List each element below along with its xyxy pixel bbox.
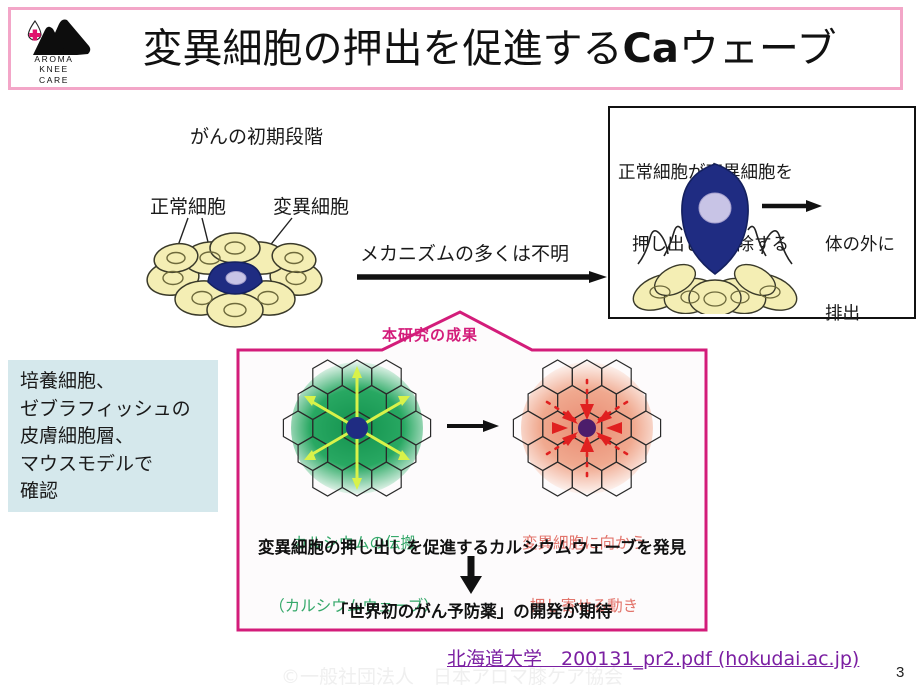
aroma-knee-care-logo-icon <box>15 14 93 56</box>
early-stage-label: がんの初期段階 <box>190 122 323 149</box>
mutant-cell-marker <box>346 417 368 439</box>
watermark: ©一般社団法人 日本アロマ膝ケア協会 <box>281 662 623 689</box>
logo-line-1: AROMA <box>15 54 93 65</box>
page-title-tail: ウェーブ <box>679 26 837 72</box>
title-bar: AROMA KNEE CARE 変異細胞の押出を促進するCaウェーブ <box>8 7 903 90</box>
logo-line-2: KNEE <box>15 64 93 75</box>
results-middle-right-arrow-icon <box>447 420 499 432</box>
logo: AROMA KNEE CARE <box>15 12 93 86</box>
mutant-cell-marker <box>578 419 596 437</box>
expel-line-2: 排出 <box>825 303 895 326</box>
expel-right-arrow-icon <box>762 200 822 212</box>
page-title: 変異細胞の押出を促進するCaウェーブ <box>93 27 900 71</box>
calcium-wave-diagram <box>272 358 442 498</box>
pushing-movement-diagram <box>502 358 672 498</box>
logo-line-3: CARE <box>15 75 93 86</box>
expulsion-panel: 正常細胞が変異細胞を 押し出して排除する <box>608 106 916 319</box>
results-down-arrow-icon <box>456 556 486 594</box>
page-number: 3 <box>896 664 904 681</box>
page-title-ca: Ca <box>623 26 679 72</box>
pushing-movement-caption: 変異細胞に向かう 押し寄せる動き <box>484 491 684 659</box>
method-note-box: 培養細胞、 ゼブラフィッシュの 皮膚細胞層、 マウスモデルで 確認 <box>8 360 218 512</box>
mechanism-right-arrow-icon <box>357 271 607 283</box>
mechanism-label: メカニズムの多くは不明 <box>360 239 569 266</box>
expel-label: 体の外に 排出 <box>825 188 895 372</box>
calcium-wave-caption: カルシウムの伝搬 （カルシウムウェーブ） <box>254 491 454 659</box>
expel-line-1: 体の外に <box>825 234 895 257</box>
logo-text: AROMA KNEE CARE <box>15 54 93 86</box>
expulsion-illustration <box>620 156 820 314</box>
page-title-main: 変異細胞の押出を促進する <box>143 26 623 72</box>
expectation-text: 「世界初のがん予防薬」の開発が期待 <box>232 598 712 622</box>
finding-text: 変異細胞の押し出しを促進するカルシウムウェーブを発見 <box>232 534 712 558</box>
method-note-text: 培養細胞、 ゼブラフィッシュの 皮膚細胞層、 マウスモデルで 確認 <box>20 368 220 506</box>
callout-title: 本研究の成果 <box>382 324 478 345</box>
research-results-callout: 本研究の成果 <box>232 306 712 636</box>
